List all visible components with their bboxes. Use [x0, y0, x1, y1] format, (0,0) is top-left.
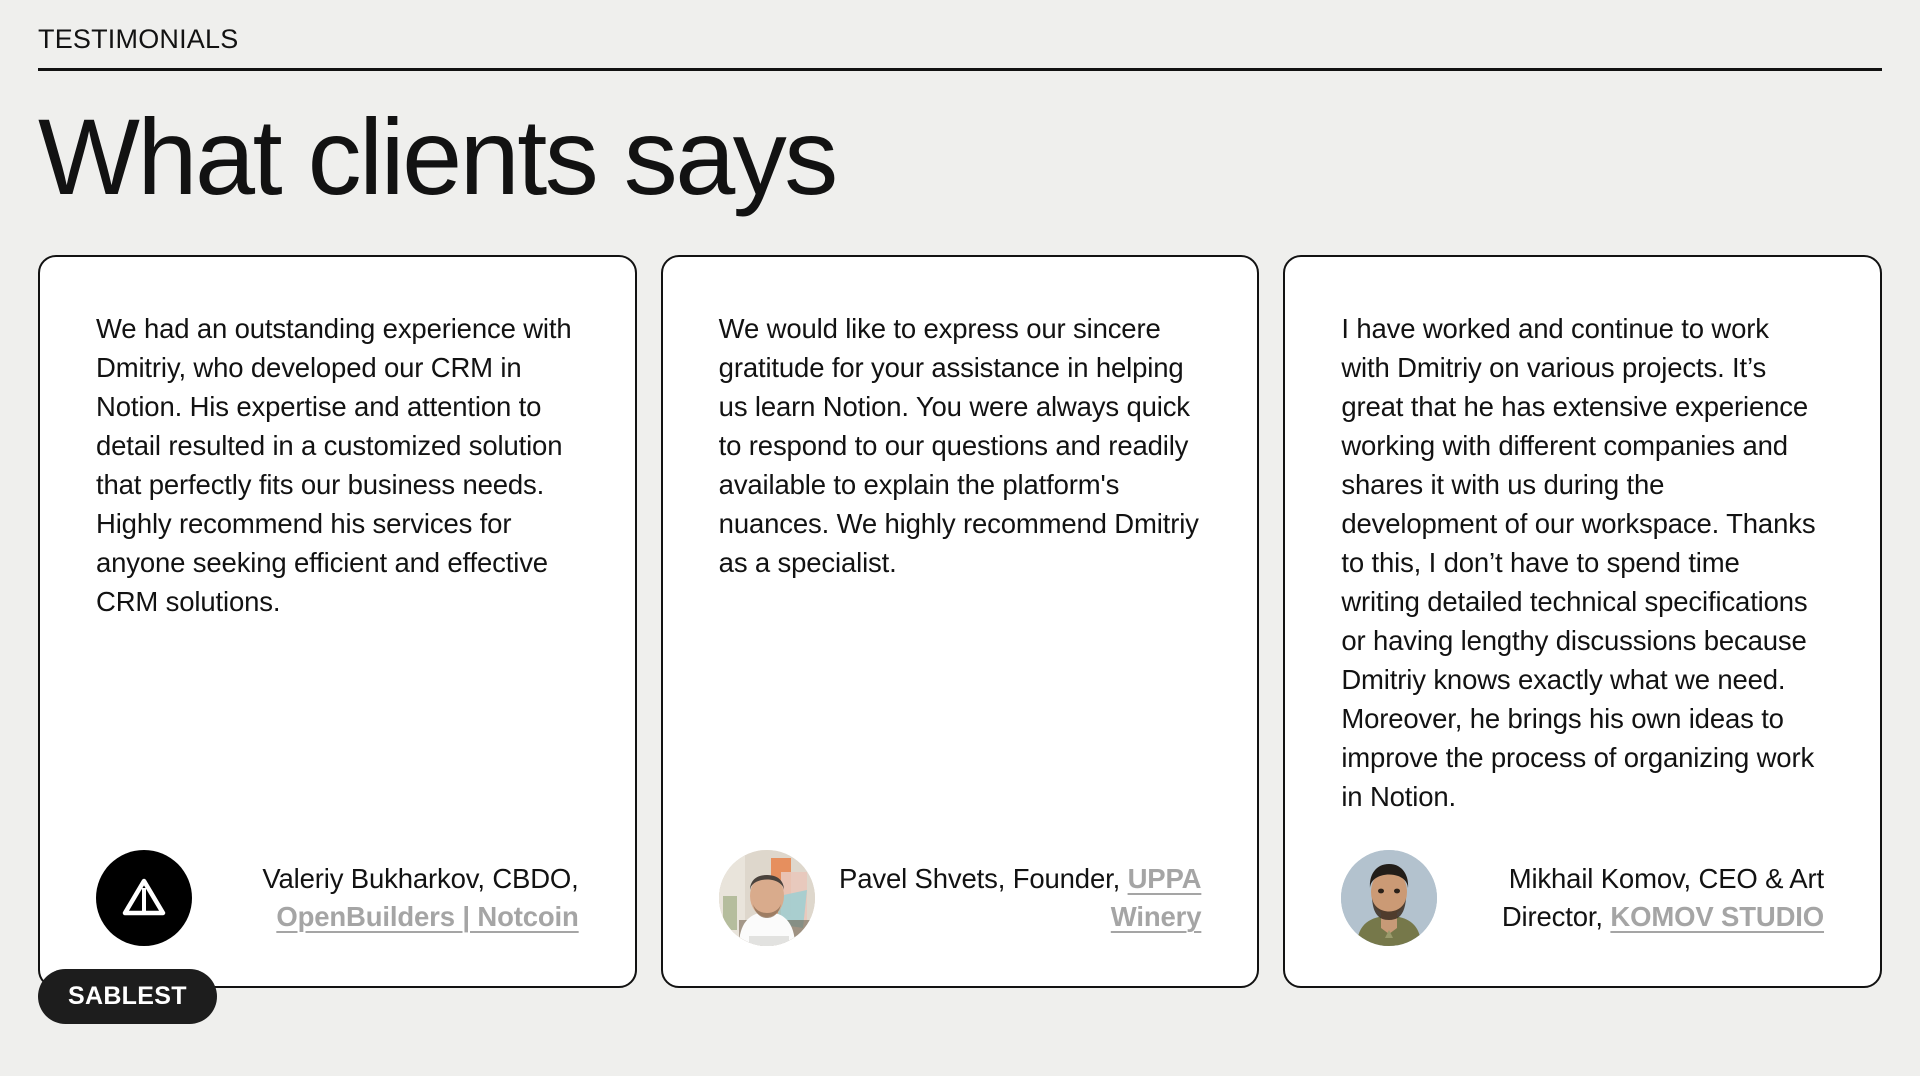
- company-link[interactable]: KOMOV STUDIO: [1610, 901, 1824, 932]
- testimonial-quote: We would like to express our sincere gra…: [719, 309, 1202, 582]
- testimonial-card: We would like to express our sincere gra…: [661, 255, 1260, 989]
- testimonial-attribution: Mikhail Komov, CEO & Art Director, KOMOV…: [1341, 816, 1824, 946]
- testimonial-attribution: Valeriy Bukharkov, CBDO, OpenBuilders | …: [96, 816, 579, 946]
- company-link[interactable]: UPPA Winery: [1111, 863, 1202, 933]
- testimonial-attribution: Pavel Shvets, Founder, UPPA Winery: [719, 816, 1202, 946]
- mikhail-komov-avatar: [1341, 850, 1437, 946]
- author-name: Valeriy Bukharkov, CBDO,: [262, 863, 578, 894]
- page-title: What clients says: [38, 103, 1882, 211]
- testimonial-card: I have worked and continue to work with …: [1283, 255, 1882, 989]
- section-header: TESTIMONIALS: [38, 0, 1882, 71]
- attribution-text: Mikhail Komov, CEO & Art Director, KOMOV…: [1455, 860, 1824, 937]
- testimonials-page: TESTIMONIALS What clients says We had an…: [0, 0, 1920, 1076]
- attribution-text: Valeriy Bukharkov, CBDO, OpenBuilders | …: [210, 860, 579, 937]
- testimonial-quote: I have worked and continue to work with …: [1341, 309, 1824, 817]
- section-eyebrow-label: TESTIMONIALS: [38, 24, 1882, 55]
- attribution-text: Pavel Shvets, Founder, UPPA Winery: [833, 860, 1202, 937]
- pavel-shvets-avatar: [719, 850, 815, 946]
- company-link[interactable]: OpenBuilders | Notcoin: [276, 901, 578, 932]
- testimonial-card: We had an outstanding experience with Dm…: [38, 255, 637, 989]
- author-name: Pavel Shvets, Founder,: [839, 863, 1120, 894]
- testimonial-card-list: We had an outstanding experience with Dm…: [38, 255, 1882, 989]
- header-divider: [38, 68, 1882, 71]
- testimonial-quote: We had an outstanding experience with Dm…: [96, 309, 579, 621]
- sablest-badge[interactable]: SABLEST: [38, 969, 217, 1024]
- openbuilders-logo-avatar: [96, 850, 192, 946]
